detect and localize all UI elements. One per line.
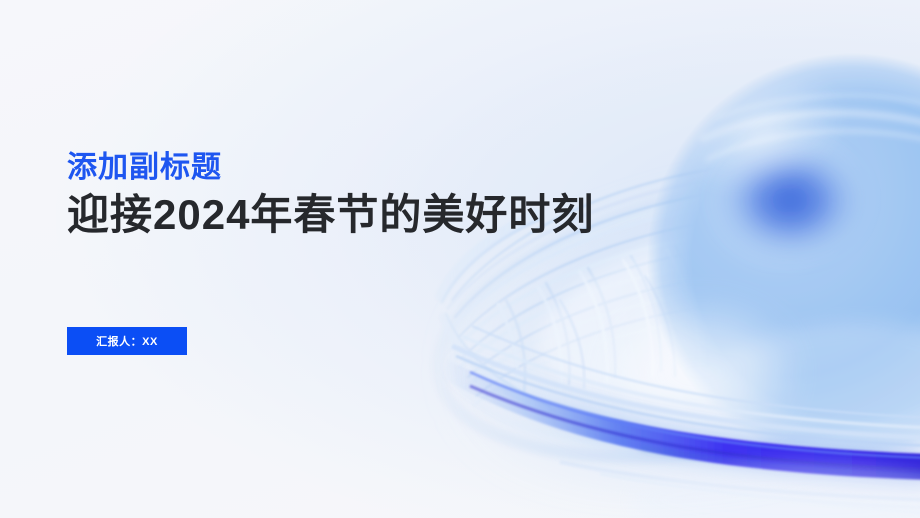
blue-gradient-sphere — [647, 50, 920, 483]
background-tint — [0, 0, 920, 518]
presenter-badge: 汇报人：XX — [67, 327, 187, 355]
slide-subtitle: 添加副标题 — [67, 150, 594, 185]
presentation-slide: 添加副标题 迎接2024年春节的美好时刻 汇报人：XX — [0, 0, 920, 518]
trailing-strands — [560, 462, 920, 518]
decorative-background-artwork — [0, 0, 920, 518]
blue-sweep-band — [442, 326, 920, 486]
abstract-sphere-ribbon-graphic — [0, 0, 920, 518]
title-text-block: 添加副标题 迎接2024年春节的美好时刻 — [67, 150, 594, 239]
sphere-coil-blend — [622, 318, 778, 426]
slide-title: 迎接2024年春节的美好时刻 — [67, 191, 594, 239]
